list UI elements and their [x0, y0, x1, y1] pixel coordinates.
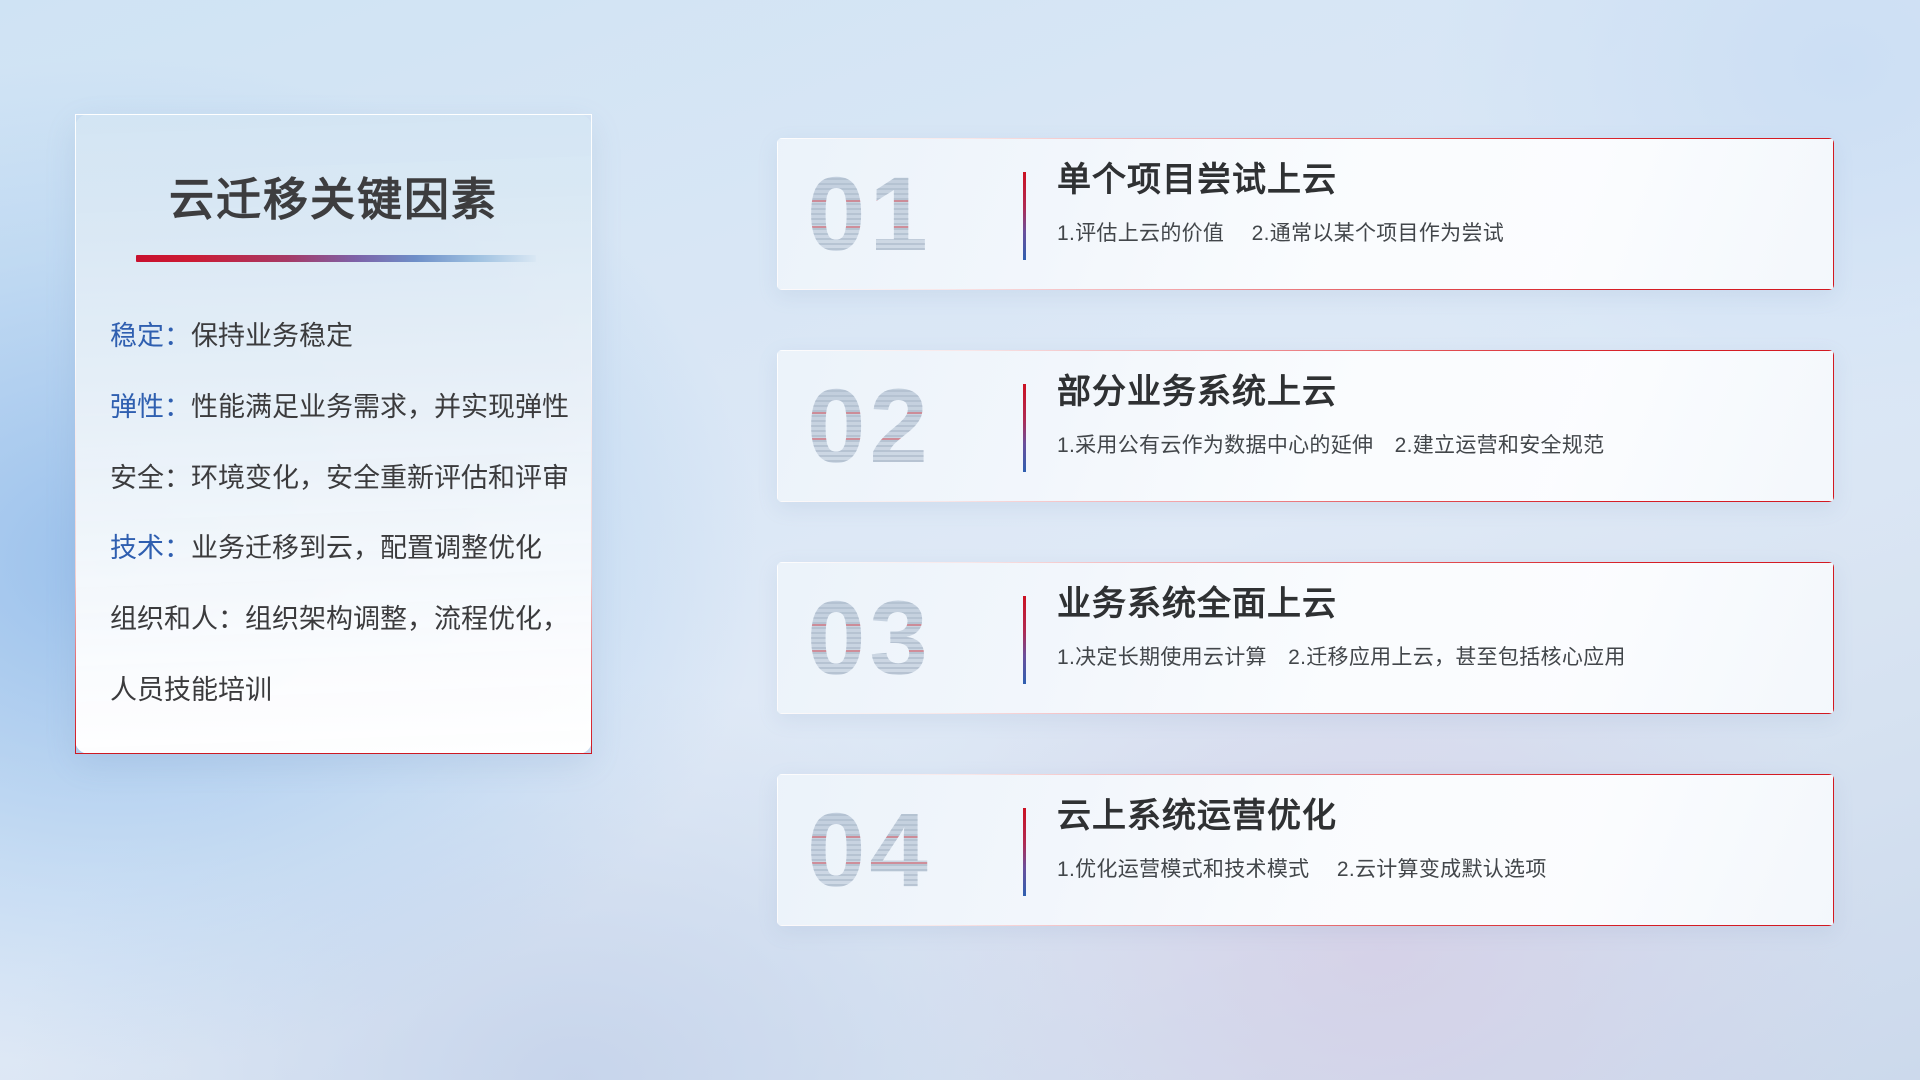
- factor-label: 技术：: [110, 532, 191, 566]
- card-body: 业务系统全面上云1.决定长期使用云计算 2.迁移应用上云，甚至包括核心应用: [1057, 584, 1814, 671]
- factor-label: 安全：: [110, 462, 191, 496]
- factor-text: 业务迁移到云，配置调整优化: [191, 532, 542, 566]
- factor-label: 稳定：: [110, 320, 191, 354]
- migration-steps-list: 0101单个项目尝试上云1.评估上云的价值 2.通常以某个项目作为尝试0202部…: [777, 138, 1834, 986]
- factor-row: 技术：业务迁移到云，配置调整优化: [110, 532, 567, 566]
- step-card[interactable]: 0303业务系统全面上云1.决定长期使用云计算 2.迁移应用上云，甚至包括核心应…: [777, 562, 1834, 714]
- step-description: 1.采用公有云作为数据中心的延伸 2.建立运营和安全规范: [1057, 429, 1814, 459]
- step-description: 1.决定长期使用云计算 2.迁移应用上云，甚至包括核心应用: [1057, 641, 1814, 671]
- page-title: 云迁移关键因素: [76, 163, 591, 228]
- card-body: 云上系统运营优化1.优化运营模式和技术模式 2.云计算变成默认选项: [1057, 796, 1814, 883]
- factor-row: 人员技能培训: [110, 674, 567, 708]
- factor-label: 弹性：: [110, 391, 191, 425]
- step-card[interactable]: 0404云上系统运营优化1.优化运营模式和技术模式 2.云计算变成默认选项: [777, 774, 1834, 926]
- step-title: 单个项目尝试上云: [1057, 160, 1814, 201]
- factor-text: 环境变化，安全重新评估和评审: [191, 462, 569, 496]
- step-number: 04: [807, 784, 932, 918]
- card-divider-accent: [1023, 384, 1026, 472]
- factor-label: 组织和人：: [110, 603, 245, 637]
- card-body: 单个项目尝试上云1.评估上云的价值 2.通常以某个项目作为尝试: [1057, 160, 1814, 247]
- step-number: 03: [807, 572, 932, 706]
- step-description: 1.优化运营模式和技术模式 2.云计算变成默认选项: [1057, 853, 1814, 883]
- key-factors-panel-inner: 云迁移关键因素 稳定：保持业务稳定弹性：性能满足业务需求，并实现弹性安全：环境变…: [76, 115, 591, 753]
- factor-list: 稳定：保持业务稳定弹性：性能满足业务需求，并实现弹性安全：环境变化，安全重新评估…: [110, 320, 567, 708]
- step-title: 部分业务系统上云: [1057, 372, 1814, 413]
- step-description: 1.评估上云的价值 2.通常以某个项目作为尝试: [1057, 217, 1814, 247]
- factor-row: 安全：环境变化，安全重新评估和评审: [110, 462, 567, 496]
- step-number: 02: [807, 360, 932, 494]
- step-title: 云上系统运营优化: [1057, 796, 1814, 837]
- factor-text: 人员技能培训: [110, 674, 272, 708]
- step-card[interactable]: 0202部分业务系统上云1.采用公有云作为数据中心的延伸 2.建立运营和安全规范: [777, 350, 1834, 502]
- factor-row: 稳定：保持业务稳定: [110, 320, 567, 354]
- factor-text: 组织架构调整，流程优化，: [245, 603, 569, 637]
- step-card[interactable]: 0101单个项目尝试上云1.评估上云的价值 2.通常以某个项目作为尝试: [777, 138, 1834, 290]
- card-divider-accent: [1023, 808, 1026, 896]
- factor-text: 保持业务稳定: [191, 320, 353, 354]
- title-underline-accent: [136, 255, 536, 262]
- key-factors-panel: 云迁移关键因素 稳定：保持业务稳定弹性：性能满足业务需求，并实现弹性安全：环境变…: [75, 114, 592, 754]
- factor-row: 弹性：性能满足业务需求，并实现弹性: [110, 391, 567, 425]
- card-divider-accent: [1023, 172, 1026, 260]
- factor-text: 性能满足业务需求，并实现弹性: [191, 391, 569, 425]
- factor-row: 组织和人：组织架构调整，流程优化，: [110, 603, 567, 637]
- step-number: 01: [807, 148, 932, 282]
- step-title: 业务系统全面上云: [1057, 584, 1814, 625]
- card-divider-accent: [1023, 596, 1026, 684]
- card-body: 部分业务系统上云1.采用公有云作为数据中心的延伸 2.建立运营和安全规范: [1057, 372, 1814, 459]
